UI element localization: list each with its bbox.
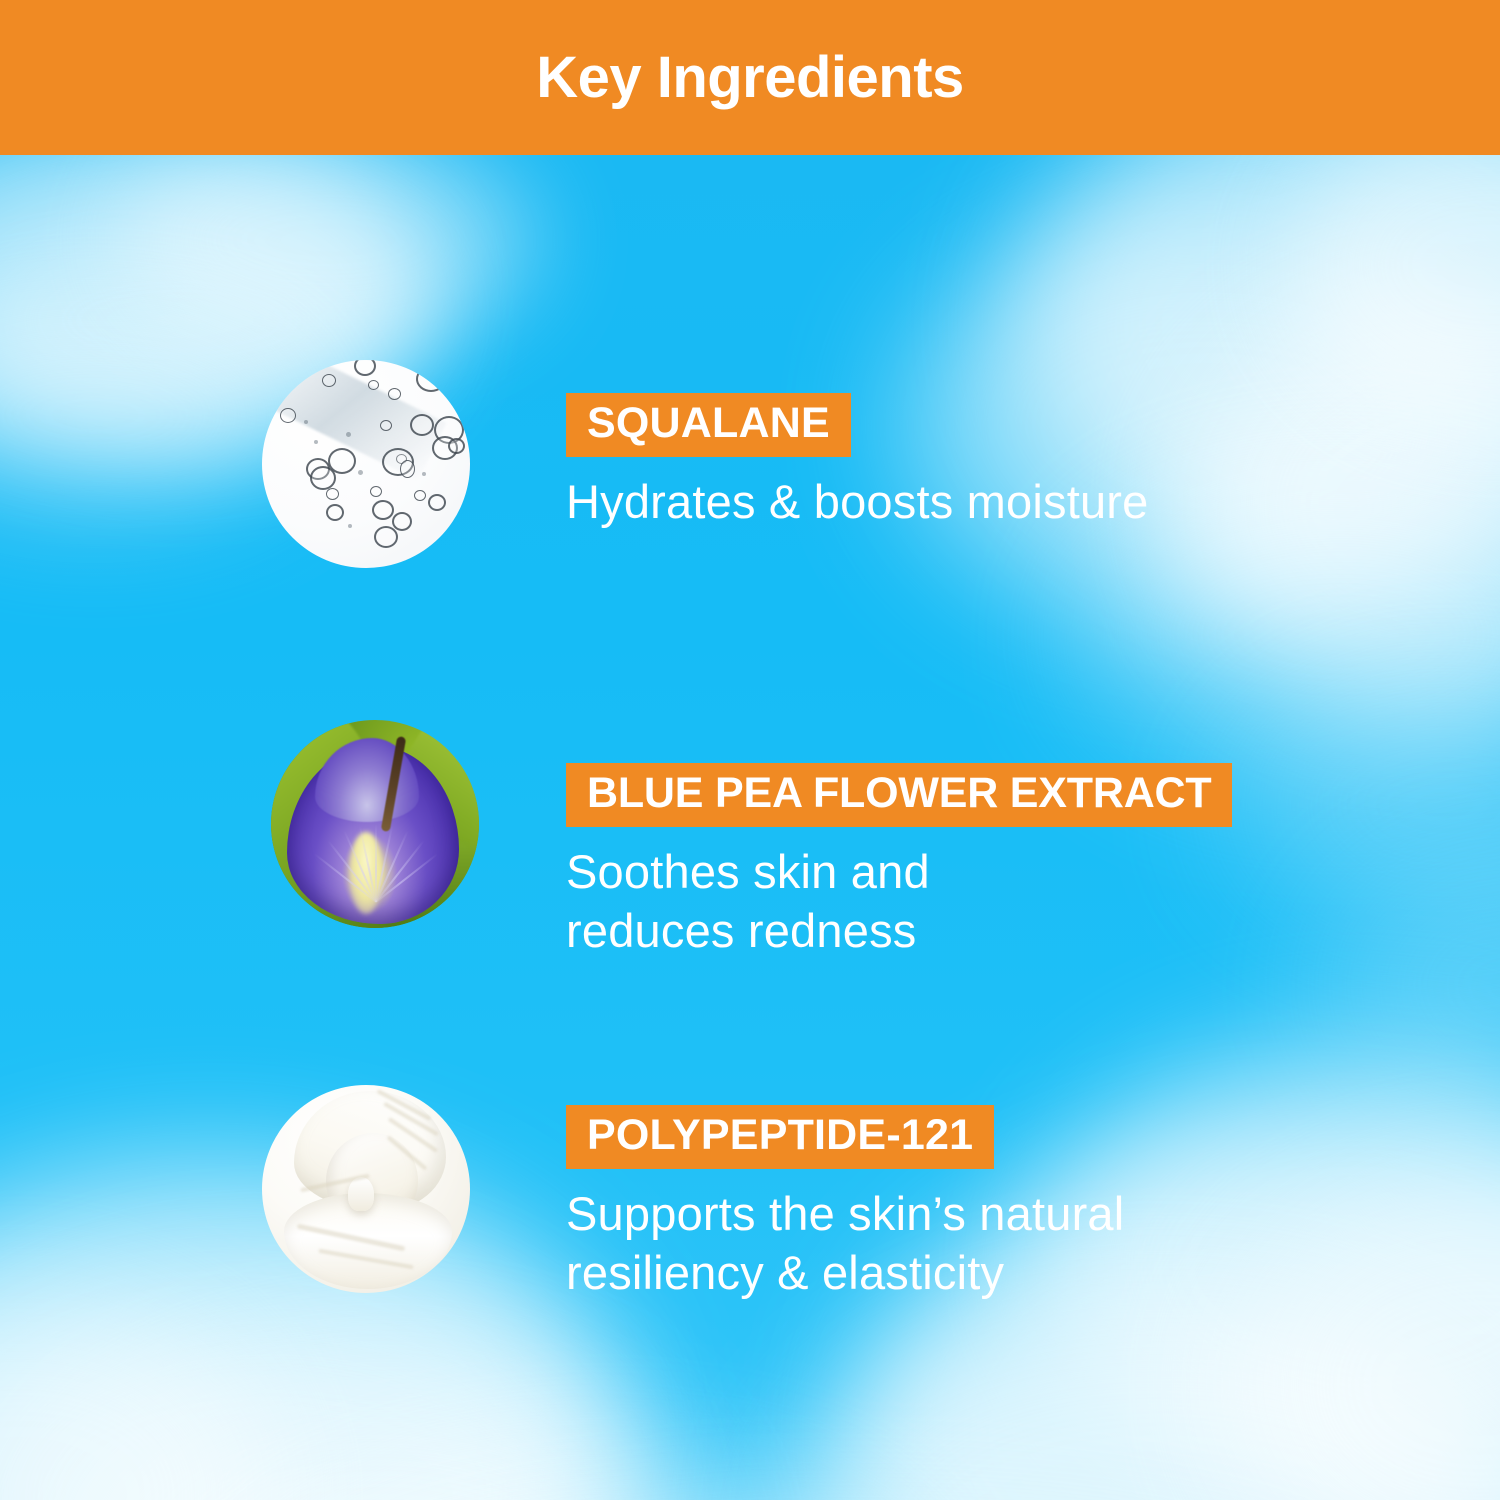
page-title: Key Ingredients (536, 49, 964, 107)
clear-gel-bubbles-swatch (262, 360, 470, 568)
bubble-icon (326, 488, 339, 500)
bubble-icon (370, 486, 382, 497)
ingredient-description: Supports the skin’s natural resiliency &… (566, 1185, 1124, 1303)
bubble-icon (314, 440, 318, 444)
bubble-icon (372, 500, 394, 520)
bubble-icon (380, 420, 392, 431)
bubble-icon (448, 438, 465, 454)
ingredient-copy: SQUALANE Hydrates & boosts moisture (566, 360, 1149, 532)
bubble-icon (400, 460, 415, 478)
ingredient-name-badge: BLUE PEA FLOWER EXTRACT (566, 763, 1232, 827)
bubble-icon (322, 374, 336, 387)
ingredient-description: Soothes skin and reduces redness (566, 843, 1232, 961)
bubble-icon (428, 494, 446, 511)
ingredient-copy: BLUE PEA FLOWER EXTRACT Soothes skin and… (566, 720, 1232, 961)
ingredient-copy: POLYPEPTIDE-121 Supports the skin’s natu… (566, 1085, 1124, 1303)
bubble-icon (414, 490, 426, 501)
header-band: Key Ingredients (0, 0, 1500, 155)
bubble-icon (374, 526, 398, 548)
bubble-icon (422, 472, 426, 476)
ingredient-name-badge: POLYPEPTIDE-121 (566, 1105, 994, 1169)
list-item: POLYPEPTIDE-121 Supports the skin’s natu… (0, 1085, 1500, 1303)
bubble-icon (348, 524, 352, 528)
blue-pea-flower-swatch (271, 720, 479, 928)
bubble-icon (310, 466, 336, 490)
bubble-icon (304, 420, 308, 424)
bubble-icon (416, 366, 446, 392)
bubble-icon (358, 470, 363, 475)
bubble-icon (410, 414, 434, 436)
bubble-icon (346, 432, 351, 437)
list-item: BLUE PEA FLOWER EXTRACT Soothes skin and… (0, 720, 1500, 961)
ingredient-description: Hydrates & boosts moisture (566, 473, 1149, 532)
bubble-icon (280, 408, 296, 423)
bubble-icon (326, 504, 344, 521)
ingredient-name-badge: SQUALANE (566, 393, 851, 457)
white-cream-swirl-swatch (262, 1085, 470, 1293)
key-ingredients-infographic: Key Ingredients (0, 0, 1500, 1500)
bubble-icon (368, 380, 379, 390)
bubble-icon (388, 388, 401, 400)
bubble-icon (392, 512, 412, 531)
cream-peak (348, 1177, 374, 1211)
ingredients-list: SQUALANE Hydrates & boosts moisture (0, 155, 1500, 1500)
list-item: SQUALANE Hydrates & boosts moisture (0, 360, 1500, 568)
bubble-icon (354, 360, 376, 376)
